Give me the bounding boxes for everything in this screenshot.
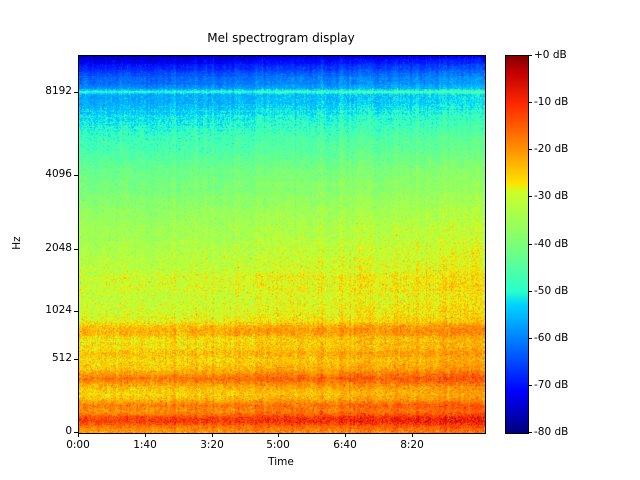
colorbar-tick-label: -60 dB — [534, 332, 604, 344]
y-tick-mark — [74, 249, 78, 250]
page-title: Mel spectrogram display — [78, 31, 484, 45]
x-tick-label-wrap: 8:20 — [382, 439, 442, 451]
y-tick-label-wrap: 4096 — [8, 169, 72, 180]
y-tick-label: 1024 — [12, 305, 72, 316]
y-tick-label: 512 — [12, 353, 72, 364]
y-tick-mark — [74, 92, 78, 93]
colorbar-tick-label: -80 dB — [534, 426, 604, 438]
x-tick-label-wrap: 0:00 — [48, 439, 108, 451]
colorbar-tick-label: -50 dB — [534, 285, 604, 297]
colorbar-tick-label-wrap: +0 dB — [534, 49, 604, 61]
colorbar[interactable] — [505, 55, 529, 434]
y-tick-label-wrap: 8192 — [8, 86, 72, 97]
colorbar-tick-label: -70 dB — [534, 379, 604, 391]
x-tick-label: 0:00 — [48, 439, 108, 451]
y-tick-label-wrap: 512 — [8, 353, 72, 364]
colorbar-tick-label-wrap: -60 dB — [534, 332, 604, 344]
x-tick-mark — [412, 433, 413, 437]
colorbar-tick-label-wrap: -20 dB — [534, 143, 604, 155]
colorbar-tick-label-wrap: -10 dB — [534, 96, 604, 108]
y-tick-label-wrap: 0 — [8, 426, 72, 437]
colorbar-gradient — [506, 56, 528, 433]
colorbar-tick-label-wrap: -50 dB — [534, 285, 604, 297]
colorbar-tick-label-wrap: -70 dB — [534, 379, 604, 391]
colorbar-tick-mark — [528, 149, 532, 150]
matplotlib-figure: Mel spectrogram display 0512102420484096… — [0, 0, 640, 480]
y-tick-mark — [74, 359, 78, 360]
y-tick-label: 4096 — [12, 169, 72, 180]
colorbar-tick-label-wrap: -80 dB — [534, 426, 604, 438]
spectrogram-image — [79, 56, 485, 433]
x-tick-label: 5:00 — [248, 439, 308, 451]
x-tick-mark — [145, 433, 146, 437]
y-tick-label: 0 — [12, 426, 72, 437]
x-tick-mark — [78, 433, 79, 437]
colorbar-tick-label: -30 dB — [534, 190, 604, 202]
y-tick-label: 8192 — [12, 86, 72, 97]
colorbar-tick-mark — [528, 196, 532, 197]
colorbar-tick-label: -10 dB — [534, 96, 604, 108]
colorbar-tick-label-wrap: -30 dB — [534, 190, 604, 202]
spectrogram-plot-area[interactable] — [78, 55, 486, 434]
x-tick-label-wrap: 1:40 — [115, 439, 175, 451]
y-tick-mark — [74, 175, 78, 176]
y-axis-label: Hz — [11, 213, 23, 273]
x-tick-label: 1:40 — [115, 439, 175, 451]
x-tick-label-wrap: 3:20 — [182, 439, 242, 451]
colorbar-tick-label: -20 dB — [534, 143, 604, 155]
x-tick-mark — [212, 433, 213, 437]
x-tick-mark — [278, 433, 279, 437]
y-tick-label-wrap: 1024 — [8, 305, 72, 316]
colorbar-tick-mark — [528, 244, 532, 245]
colorbar-tick-label-wrap: -40 dB — [534, 238, 604, 250]
colorbar-tick-label: +0 dB — [534, 49, 604, 61]
x-tick-mark — [345, 433, 346, 437]
y-tick-mark — [74, 432, 78, 433]
colorbar-tick-label: -40 dB — [534, 238, 604, 250]
colorbar-tick-mark — [528, 432, 532, 433]
colorbar-tick-mark — [528, 291, 532, 292]
x-tick-label: 8:20 — [382, 439, 442, 451]
colorbar-tick-mark — [528, 55, 532, 56]
colorbar-tick-mark — [528, 102, 532, 103]
x-axis-label: Time — [78, 456, 484, 468]
x-tick-label-wrap: 5:00 — [248, 439, 308, 451]
x-tick-label: 3:20 — [182, 439, 242, 451]
x-tick-label: 6:40 — [315, 439, 375, 451]
x-tick-label-wrap: 6:40 — [315, 439, 375, 451]
colorbar-tick-mark — [528, 338, 532, 339]
y-tick-mark — [74, 311, 78, 312]
colorbar-tick-mark — [528, 385, 532, 386]
